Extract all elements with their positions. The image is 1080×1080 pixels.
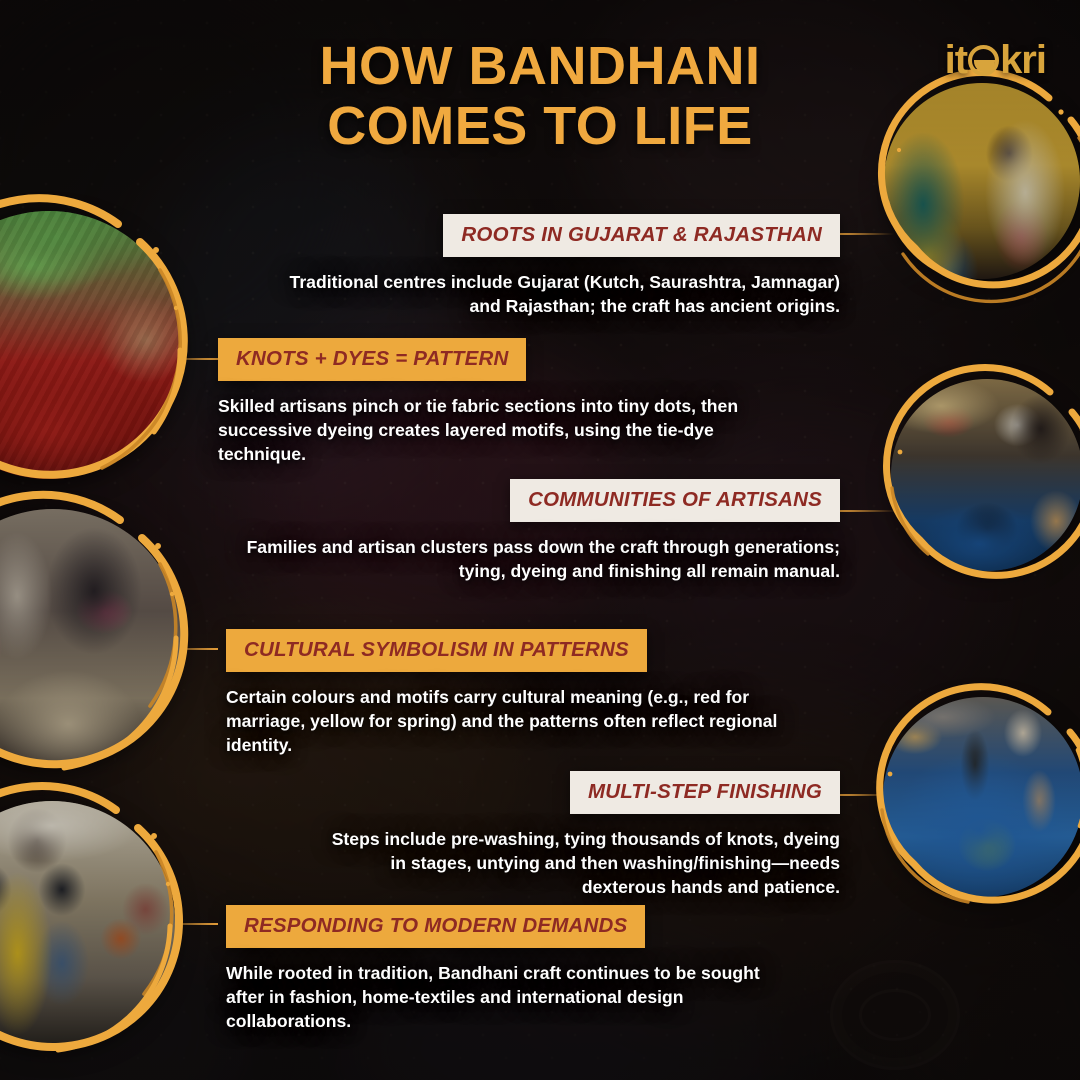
photo-medallion-women-tying <box>873 72 1080 290</box>
section-roots-in-gujarat-rajasthan: ROOTS IN GUJARAT & RAJASTHAN Traditional… <box>276 214 840 318</box>
brush-ring-decoration <box>880 368 1080 582</box>
section-body-4: Certain colours and motifs carry cultura… <box>226 685 782 757</box>
photo-medallion-dyer-blue-tub <box>880 368 1080 582</box>
section-heading-1: ROOTS IN GUJARAT & RAJASTHAN <box>443 214 840 257</box>
section-body-6: While rooted in tradition, Bandhani craf… <box>226 961 786 1033</box>
section-cultural-symbolism-in-patterns: CULTURAL SYMBOLISM IN PATTERNS Certain c… <box>226 629 782 757</box>
logo-basket-icon <box>968 45 999 76</box>
brush-ring-decoration <box>0 200 194 490</box>
brush-ring-decoration <box>873 72 1080 290</box>
section-body-5: Steps include pre-washing, tying thousan… <box>316 827 840 899</box>
itokri-logo[interactable]: it kri <box>945 40 1046 80</box>
logo-text-suffix: kri <box>1000 40 1046 80</box>
section-heading-6: RESPONDING TO MODERN DEMANDS <box>226 905 645 948</box>
photo-medallion-hands-red-fabric <box>0 200 194 490</box>
section-responding-to-modern-demands: RESPONDING TO MODERN DEMANDS While roote… <box>226 905 786 1033</box>
brush-ring-decoration <box>872 686 1080 908</box>
brush-ring-decoration <box>0 790 186 1058</box>
logo-text-prefix: it <box>945 40 967 80</box>
photo-medallion-dyer-yellow-fabric <box>0 790 186 1058</box>
photo-medallion-women-artisans-outdoors <box>0 498 192 776</box>
section-body-1: Traditional centres include Gujarat (Kut… <box>276 270 840 318</box>
section-heading-4: CULTURAL SYMBOLISM IN PATTERNS <box>226 629 647 672</box>
photo-medallion-fabric-into-dye-vat <box>872 686 1080 908</box>
brush-ring-decoration <box>0 498 192 776</box>
section-body-2: Skilled artisans pinch or tie fabric sec… <box>218 394 802 466</box>
section-multi-step-finishing: MULTI-STEP FINISHING Steps include pre-w… <box>316 771 840 899</box>
infographic-poster: HOW BANDHANI COMES TO LIFE it kri <box>0 0 1080 1080</box>
section-heading-2: KNOTS + DYES = PATTERN <box>218 338 526 381</box>
section-heading-3: COMMUNITIES OF ARTISANS <box>510 479 840 522</box>
section-knots-dyes-pattern: KNOTS + DYES = PATTERN Skilled artisans … <box>218 338 802 466</box>
section-heading-5: MULTI-STEP FINISHING <box>570 771 840 814</box>
section-communities-of-artisans: COMMUNITIES OF ARTISANS Families and art… <box>238 479 840 583</box>
section-body-3: Families and artisan clusters pass down … <box>238 535 840 583</box>
